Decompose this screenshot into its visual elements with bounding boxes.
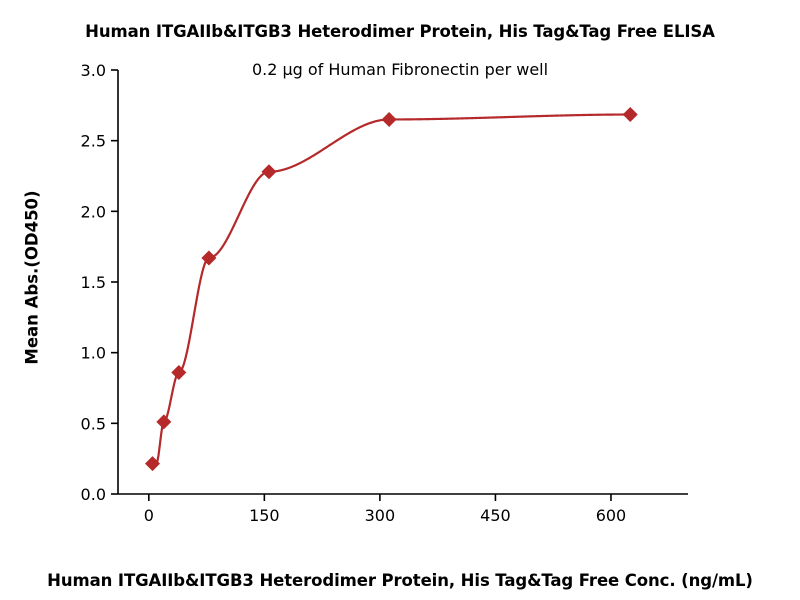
data-point-marker <box>201 250 216 265</box>
data-point-marker <box>261 164 276 179</box>
x-tick-label: 450 <box>480 506 511 525</box>
y-tick-label: 0.0 <box>81 485 106 504</box>
data-point-marker <box>382 112 397 127</box>
y-tick-label: 3.0 <box>81 61 106 80</box>
x-tick-label: 600 <box>596 506 627 525</box>
axis-lines <box>118 70 688 494</box>
x-tick-label: 300 <box>365 506 396 525</box>
data-point-marker <box>623 107 638 122</box>
data-points <box>145 107 638 471</box>
y-tick-label: 1.0 <box>81 344 106 363</box>
plot-area: 0.00.51.01.52.02.53.00150300450600 <box>0 0 800 600</box>
data-point-marker <box>156 414 171 429</box>
x-tick-label: 0 <box>144 506 154 525</box>
fit-curve <box>153 115 631 464</box>
chart-figure: Human ITGAIIb&ITGB3 Heterodimer Protein,… <box>0 0 800 600</box>
data-point-marker <box>171 365 186 380</box>
y-tick-label: 1.5 <box>81 273 106 292</box>
y-tick-label: 2.5 <box>81 132 106 151</box>
y-tick-label: 2.0 <box>81 202 106 221</box>
x-tick-label: 150 <box>249 506 280 525</box>
y-axis-ticks: 0.00.51.01.52.02.53.0 <box>81 61 118 504</box>
y-tick-label: 0.5 <box>81 414 106 433</box>
x-axis-ticks: 0150300450600 <box>144 494 627 525</box>
